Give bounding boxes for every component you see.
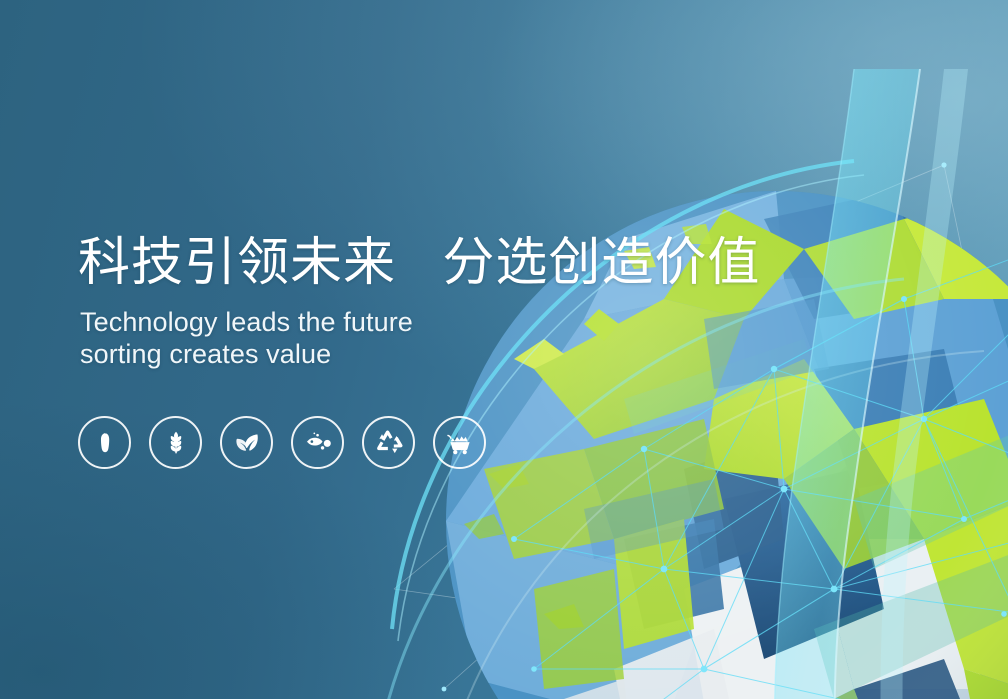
wheat-stalk-icon: [162, 429, 190, 457]
industry-icon-row: [78, 416, 486, 469]
page-title: 科技引领未来 分选创造价值: [78, 236, 778, 291]
icon-badge-wheat[interactable]: [149, 416, 202, 469]
mine-cart-icon: [446, 429, 474, 457]
subtitle: Technology leads the future sorting crea…: [80, 307, 778, 371]
subtitle-line-1: Technology leads the future: [80, 307, 778, 339]
recycle-icon: [375, 429, 403, 457]
icon-badge-mine-cart[interactable]: [433, 416, 486, 469]
fish-icon: [304, 429, 332, 457]
hero-banner: 科技引领未来 分选创造价值 Technology leads the futur…: [0, 0, 1008, 699]
rice-grain-icon: [91, 429, 119, 457]
icon-badge-fish[interactable]: [291, 416, 344, 469]
icon-badge-tea-leaves[interactable]: [220, 416, 273, 469]
tea-leaves-icon: [233, 429, 261, 457]
subtitle-line-2: sorting creates value: [80, 339, 778, 371]
icon-badge-recycle[interactable]: [362, 416, 415, 469]
icon-badge-rice-grain[interactable]: [78, 416, 131, 469]
copy-block: 科技引领未来 分选创造价值 Technology leads the futur…: [78, 236, 778, 371]
